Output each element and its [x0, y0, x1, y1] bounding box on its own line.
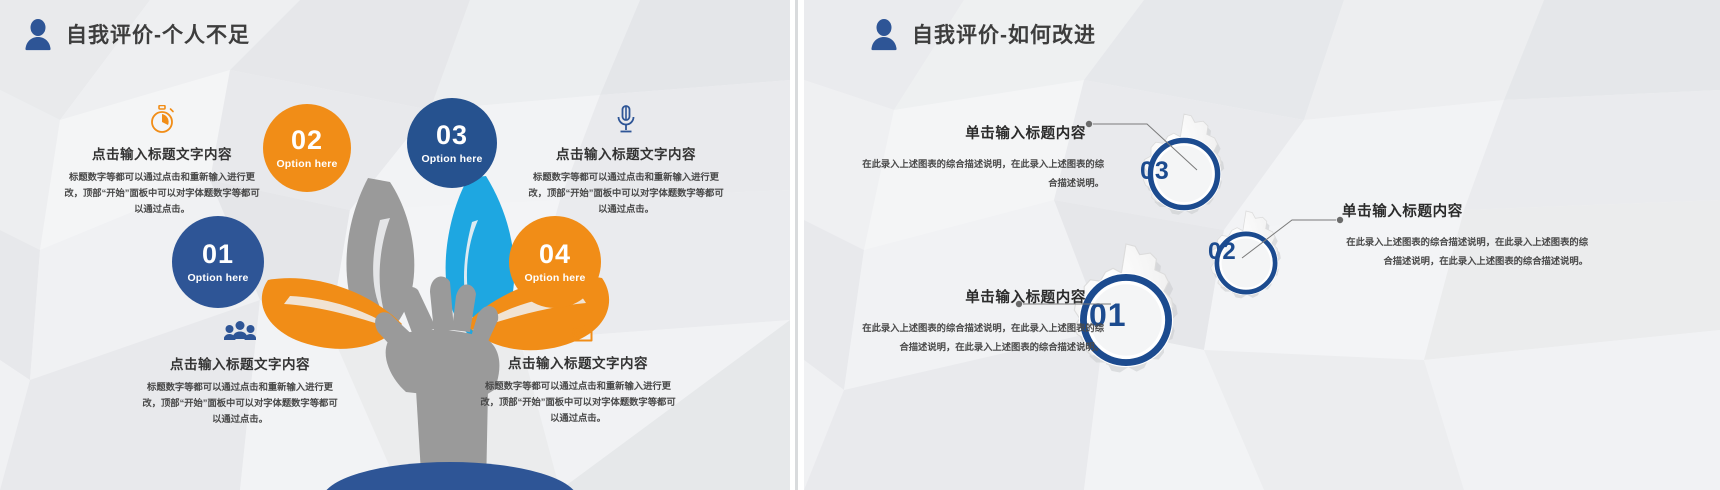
slide-divider [790, 0, 804, 490]
badge-number: 02 [291, 127, 323, 154]
person-icon [870, 18, 898, 52]
text-block-stopwatch: 点击输入标题文字内容 标题数字等都可以通过点击和重新输入进行更改，顶部“开始”面… [62, 104, 262, 218]
badge-01[interactable]: 01 Option here [172, 216, 264, 308]
slide-header-right: 自我评价-如何改进 [870, 18, 1096, 52]
text-block-people-group: 点击输入标题文字内容 标题数字等都可以通过点击和重新输入进行更改，顶部“开始”面… [140, 314, 340, 428]
stopwatch-icon [62, 104, 262, 134]
badge-02[interactable]: 02 Option here [263, 104, 351, 192]
person-icon [24, 18, 52, 52]
block-title: 点击输入标题文字内容 [478, 352, 678, 372]
leader-line-02 [1240, 212, 1350, 272]
block-title: 单击输入标题内容 [856, 286, 1104, 307]
block-title: 点击输入标题文字内容 [140, 353, 340, 373]
block-body: 标题数字等都可以通过点击和重新输入进行更改，顶部“开始”面板中可以对字体题数字等… [526, 170, 726, 218]
block-body: 标题数字等都可以通过点击和重新输入进行更改，顶部“开始”面板中可以对字体题数字等… [478, 379, 678, 427]
text-block-microphone: 点击输入标题文字内容 标题数字等都可以通过点击和重新输入进行更改，顶部“开始”面… [526, 104, 726, 218]
leader-line-03 [1085, 118, 1215, 188]
block-body: 标题数字等都可以通过点击和重新输入进行更改，顶部“开始”面板中可以对字体题数字等… [140, 380, 340, 428]
block-title: 单击输入标题内容 [856, 122, 1104, 143]
slide-deck: 自我评价-个人不足 [0, 0, 1720, 490]
badge-number: 01 [202, 241, 234, 268]
gear-number-02: 02 [1208, 238, 1237, 266]
block-body: 在此录入上述图表的综合描述说明，在此录入上述图表的综合描述说明，在此录入上述图表… [856, 319, 1104, 356]
badge-03[interactable]: 03 Option here [407, 98, 497, 188]
badge-label: Option here [276, 158, 337, 170]
page-title: 自我评价-个人不足 [66, 25, 250, 46]
badge-label: Option here [187, 272, 248, 284]
badge-label: Option here [524, 272, 585, 284]
camera-icon [478, 313, 678, 343]
block-body: 标题数字等都可以通过点击和重新输入进行更改，顶部“开始”面板中可以对字体题数字等… [62, 170, 262, 218]
block-title: 点击输入标题文字内容 [526, 143, 726, 163]
microphone-icon [526, 104, 726, 134]
text-block-03: 单击输入标题内容 在此录入上述图表的综合描述说明，在此录入上述图表的综合描述说明… [856, 122, 1104, 192]
text-block-01: 单击输入标题内容 在此录入上述图表的综合描述说明，在此录入上述图表的综合描述说明… [856, 286, 1104, 356]
slide-self-evaluation-weakness[interactable]: 自我评价-个人不足 [0, 0, 790, 490]
badge-04[interactable]: 04 Option here [509, 216, 601, 308]
page-title: 自我评价-如何改进 [912, 25, 1096, 46]
text-block-camera: 点击输入标题文字内容 标题数字等都可以通过点击和重新输入进行更改，顶部“开始”面… [478, 313, 678, 427]
block-title: 点击输入标题文字内容 [62, 143, 262, 163]
block-title: 单击输入标题内容 [1342, 200, 1588, 221]
text-block-02: 单击输入标题内容 在此录入上述图表的综合描述说明，在此录入上述图表的综合描述说明… [1342, 200, 1588, 270]
slide-header-left: 自我评价-个人不足 [24, 18, 250, 52]
badge-number: 03 [436, 122, 468, 149]
badge-number: 04 [539, 241, 571, 268]
badge-label: Option here [421, 153, 482, 165]
people-group-icon [140, 314, 340, 344]
block-body: 在此录入上述图表的综合描述说明，在此录入上述图表的综合描述说明，在此录入上述图表… [1342, 233, 1588, 270]
block-body: 在此录入上述图表的综合描述说明，在此录入上述图表的综合描述说明。 [856, 155, 1104, 192]
